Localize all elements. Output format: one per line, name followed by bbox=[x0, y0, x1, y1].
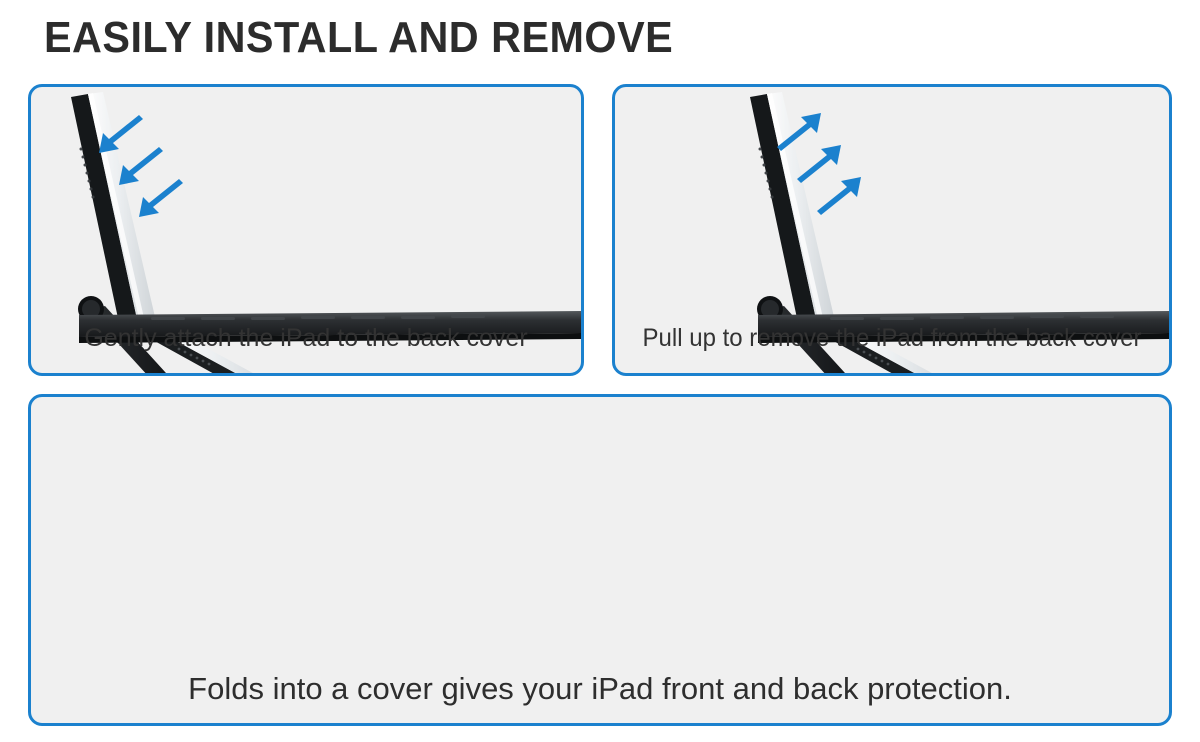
infographic-page: EASILY INSTALL AND REMOVE bbox=[0, 0, 1200, 742]
caption-attach: Gently attach the iPad to the back cover bbox=[31, 324, 581, 353]
panel-attach: Gently attach the iPad to the back cover bbox=[28, 84, 584, 376]
caption-fold: Folds into a cover gives your iPad front… bbox=[31, 671, 1169, 707]
page-title: EASILY INSTALL AND REMOVE bbox=[44, 10, 673, 66]
panel-remove: Pull up to remove the iPad from the back… bbox=[612, 84, 1172, 376]
caption-remove: Pull up to remove the iPad from the back… bbox=[626, 324, 1158, 353]
panel-fold: 01 02 03 Folds into a cover gives your i… bbox=[28, 394, 1172, 726]
